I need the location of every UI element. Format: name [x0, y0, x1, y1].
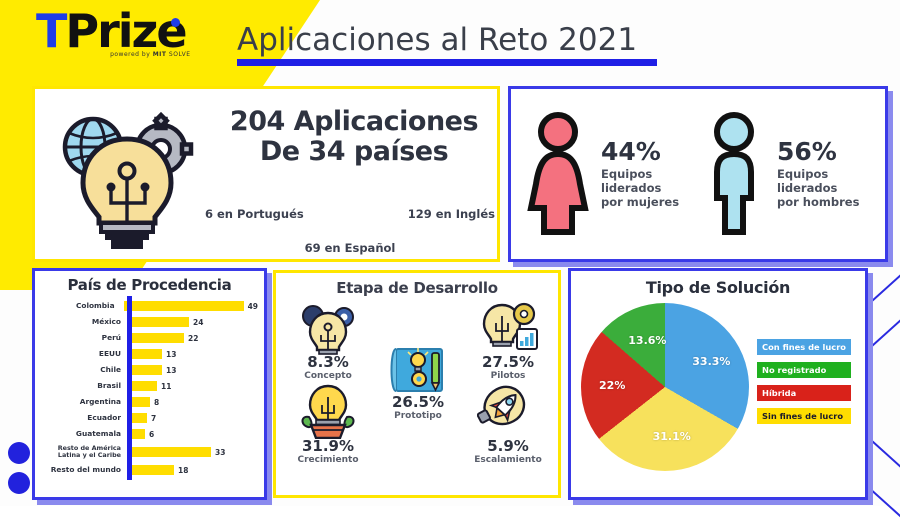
bar-row: Guatemala6 — [35, 426, 258, 442]
bar-category-label: México — [35, 318, 125, 325]
bar-fill — [130, 333, 184, 343]
stage-item-crecimiento: 31.9% Crecimiento — [282, 385, 374, 465]
bar-fill — [130, 429, 145, 439]
bar-value-label: 8 — [154, 398, 159, 407]
stage-percent-concepto: 8.3% — [282, 355, 374, 370]
gender-leadership-card: 44% Equipos liderados por mujeres 56% — [508, 86, 888, 262]
bar-fill — [130, 381, 157, 391]
bar-track: 18 — [125, 465, 258, 475]
gender-text-women: 44% Equipos liderados por mujeres — [601, 139, 679, 209]
bar-chart-axis — [127, 296, 132, 480]
bar-row: México24 — [35, 314, 258, 330]
countries-chart-card: País de Procedencia Colombia49México24Pe… — [32, 268, 267, 500]
legend-item[interactable]: Híbrida — [757, 385, 851, 401]
bulb-plant-pot-icon — [282, 385, 374, 439]
women-percent: 44% — [601, 139, 679, 164]
stage-label-crecimiento: Crecimiento — [282, 455, 374, 465]
legend-item[interactable]: No registrado — [757, 362, 851, 378]
stage-label-prototipo: Prototipo — [372, 411, 464, 421]
bar-fill — [130, 397, 150, 407]
stage-percent-pilotos: 27.5% — [462, 355, 554, 370]
blueprint-pencil-icon — [372, 341, 464, 395]
bar-track: 24 — [125, 317, 258, 327]
bar-category-label: Perú — [35, 334, 125, 341]
bar-track: 11 — [125, 381, 258, 391]
logo-wordmark: TPrize — [36, 8, 195, 54]
bulb-globe-gear-icon — [282, 301, 374, 355]
bar-track: 22 — [125, 333, 258, 343]
bar-track: 13 — [125, 349, 258, 359]
legend-item[interactable]: Sin fines de lucro — [757, 408, 851, 424]
pie-slice-label: 31.1% — [653, 430, 691, 443]
solve-text: SOLVE — [169, 51, 191, 58]
bar-track: 13 — [125, 365, 258, 375]
infographic-canvas: TPrize powered by MIT SOLVE Aplicaciones… — [0, 0, 900, 506]
pie-slice-label: 33.3% — [692, 355, 730, 368]
stage-item-escalamiento: 5.9% Escalamiento — [462, 385, 554, 465]
bar-category-label: Ecuador — [35, 414, 125, 421]
bar-fill — [130, 465, 174, 475]
bar-value-label: 11 — [161, 382, 171, 391]
pie-chart-legend: Con fines de lucroNo registradoHíbridaSi… — [757, 339, 851, 424]
bar-category-label: Resto del mundo — [35, 466, 125, 473]
logo-letters-prize: Prize — [65, 4, 185, 58]
men-caption-l3: por hombres — [777, 195, 859, 209]
bar-row: Ecuador7 — [35, 410, 258, 426]
bar-category-label: Brasil — [35, 382, 125, 389]
stage-percent-crecimiento: 31.9% — [282, 439, 374, 454]
pie-slice-label: 13.6% — [628, 334, 666, 347]
decorative-line — [871, 305, 900, 347]
logo-dot-icon — [171, 18, 180, 27]
countries-count-line: De 34 países — [215, 137, 493, 167]
decorative-line — [867, 486, 900, 521]
women-caption-l3: por mujeres — [601, 195, 679, 209]
bar-value-label: 22 — [188, 334, 198, 343]
bar-track: 7 — [125, 413, 258, 423]
decorative-line — [871, 260, 900, 302]
bar-fill — [130, 317, 189, 327]
men-caption-l2: liderados — [777, 181, 859, 195]
bar-fill — [130, 349, 162, 359]
mit-text: MIT — [153, 51, 167, 58]
stage-item-concepto: 8.3% Concepto — [282, 301, 374, 381]
stage-percent-escalamiento: 5.9% — [462, 439, 554, 454]
men-caption: Equipos liderados por hombres — [777, 167, 859, 209]
bar-row: Resto del mundo18 — [35, 462, 258, 478]
bar-row: Colombia49 — [35, 298, 258, 314]
applications-card: 204 Aplicaciones De 34 países 6 en Portu… — [32, 86, 500, 262]
stage-percent-prototipo: 26.5% — [372, 395, 464, 410]
stage-label-pilotos: Pilotos — [462, 371, 554, 381]
bar-fill — [130, 413, 147, 423]
title-underline — [237, 59, 657, 66]
decorative-dot — [8, 472, 30, 494]
bar-row: EEUU13 — [35, 346, 258, 362]
bar-category-label: Guatemala — [35, 430, 125, 437]
language-breakdown-row: 6 en Portugués 129 en Inglés — [205, 207, 495, 221]
stage-grid: 8.3% Concepto 31.9% Cre — [276, 297, 558, 483]
bar-fill — [124, 301, 244, 311]
bar-row: Brasil11 — [35, 378, 258, 394]
solution-chart-title: Tipo de Solución — [571, 271, 865, 297]
bar-track: 8 — [125, 397, 258, 407]
solution-type-card: Tipo de Solución 33.3%31.1%22%13.6% Con … — [568, 268, 868, 500]
stage-label-escalamiento: Escalamiento — [462, 455, 554, 465]
bar-value-label: 49 — [248, 302, 258, 311]
legend-item[interactable]: Con fines de lucro — [757, 339, 851, 355]
bar-track: 6 — [125, 429, 258, 439]
gender-item-men: 56% Equipos liderados por hombres — [701, 110, 871, 238]
men-percent: 56% — [777, 139, 859, 164]
language-spanish-wrap: 69 en Español — [205, 237, 495, 256]
bar-value-label: 13 — [166, 366, 176, 375]
lightbulb-globe-gear-icon — [49, 103, 209, 253]
bar-fill — [130, 447, 211, 457]
women-caption-l2: liderados — [601, 181, 679, 195]
bar-category-label: Resto de AméricaLatina y el Caribe — [35, 445, 125, 458]
gender-text-men: 56% Equipos liderados por hombres — [777, 139, 859, 209]
powered-by-text: powered by — [110, 51, 150, 58]
decorative-dot — [8, 442, 30, 464]
language-english: 129 en Inglés — [408, 207, 495, 221]
bar-value-label: 18 — [178, 466, 188, 475]
bulb-gear-chart-icon — [462, 301, 554, 355]
page-title-block: Aplicaciones al Reto 2021 — [237, 22, 657, 66]
applications-count-line: 204 Aplicaciones — [215, 107, 493, 137]
bar-value-label: 24 — [193, 318, 203, 327]
applications-headline: 204 Aplicaciones De 34 países — [215, 107, 493, 167]
female-figure-icon — [525, 110, 591, 238]
countries-bar-list: Colombia49México24Perú22EEUU13Chile13Bra… — [35, 294, 264, 482]
bar-track: 49 — [119, 301, 258, 311]
bar-fill — [130, 365, 162, 375]
decorative-line — [871, 440, 900, 488]
bar-category-label: Colombia — [35, 302, 119, 309]
male-figure-icon — [701, 110, 767, 238]
bar-row: Resto de AméricaLatina y el Caribe33 — [35, 442, 258, 462]
stage-label-concepto: Concepto — [282, 371, 374, 381]
bar-value-label: 7 — [151, 414, 156, 423]
bar-value-label: 6 — [149, 430, 154, 439]
pie-chart-area: 33.3%31.1%22%13.6% Con fines de lucroNo … — [571, 297, 865, 487]
bar-value-label: 33 — [215, 448, 225, 457]
bar-track: 33 — [125, 447, 258, 457]
logo-letter-t: T — [36, 4, 65, 58]
pie-slice-label: 22% — [599, 379, 625, 392]
bar-category-label: EEUU — [35, 350, 125, 357]
bar-category-label: Argentina — [35, 398, 125, 405]
language-spanish: 69 en Español — [305, 241, 396, 255]
bar-row: Perú22 — [35, 330, 258, 346]
women-caption-l1: Equipos — [601, 167, 679, 181]
stage-item-prototipo: 26.5% Prototipo — [372, 341, 464, 421]
gender-item-women: 44% Equipos liderados por mujeres — [525, 110, 695, 238]
bulb-rocket-icon — [462, 385, 554, 439]
bar-value-label: 13 — [166, 350, 176, 359]
language-portuguese: 6 en Portugués — [205, 207, 304, 221]
countries-chart-title: País de Procedencia — [35, 271, 264, 294]
bar-row: Chile13 — [35, 362, 258, 378]
bar-row: Argentina8 — [35, 394, 258, 410]
bar-category-label: Chile — [35, 366, 125, 373]
page-title: Aplicaciones al Reto 2021 — [237, 22, 657, 58]
women-caption: Equipos liderados por mujeres — [601, 167, 679, 209]
stage-card-title: Etapa de Desarrollo — [276, 273, 558, 297]
development-stage-card: Etapa de Desarrollo 8.3% Concepto — [273, 270, 561, 498]
tprize-logo: TPrize powered by MIT SOLVE — [36, 8, 195, 58]
men-caption-l1: Equipos — [777, 167, 859, 181]
stage-item-pilotos: 27.5% Pilotos — [462, 301, 554, 381]
